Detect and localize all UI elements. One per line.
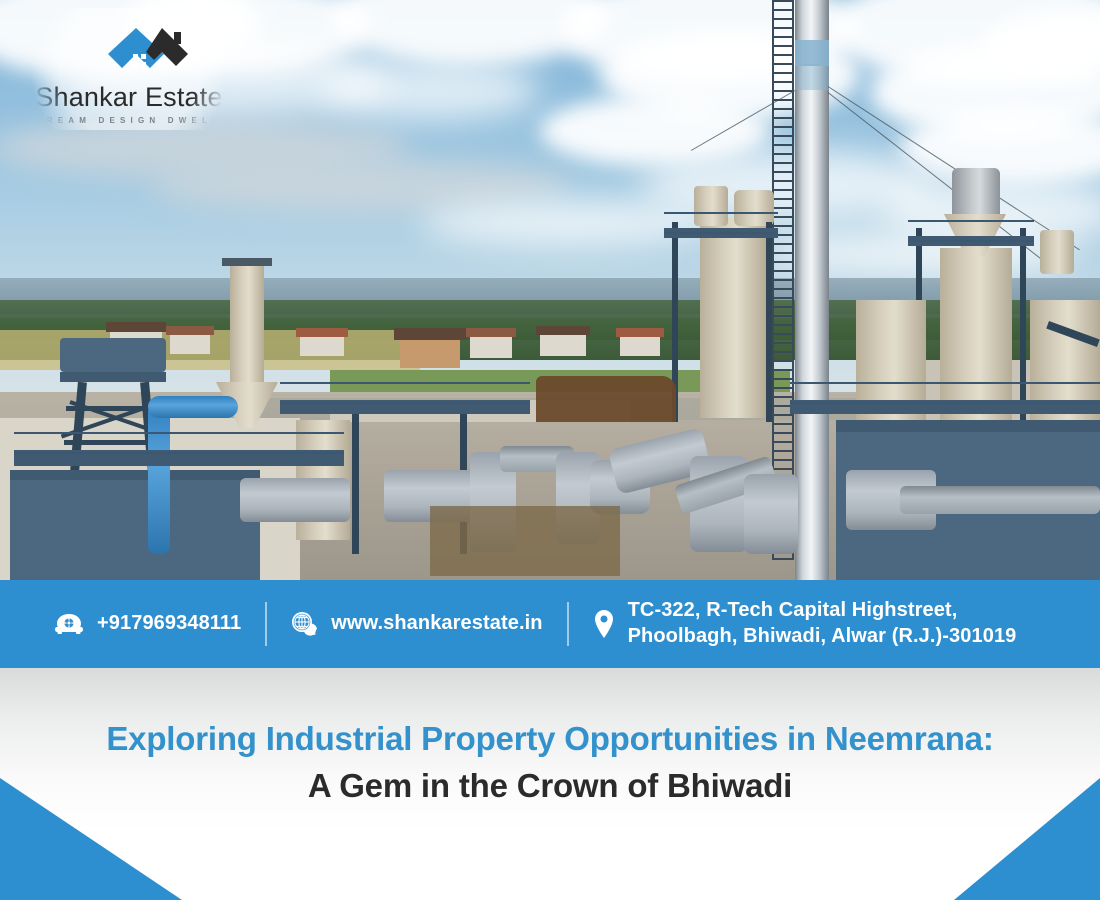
contact-divider: [567, 602, 569, 646]
platform-railing: [280, 382, 530, 404]
chimney-band: [795, 40, 829, 66]
silo-cap: [222, 258, 272, 266]
village-roof: [106, 322, 166, 332]
poster-canvas: Shankar Estate DREAM DESIGN DWELL: [0, 0, 1100, 900]
left-building-top: [10, 470, 260, 480]
tower-railing: [908, 220, 1034, 242]
village-house: [470, 336, 512, 358]
material-heap: [430, 506, 620, 576]
village-roof: [536, 326, 590, 335]
website-url: www.shankarestate.in: [331, 611, 542, 637]
blue-pipe-vertical: [148, 404, 170, 554]
duct-vertical: [744, 474, 798, 554]
left-building: [10, 470, 260, 582]
village-house: [300, 336, 344, 356]
duct-box: [240, 478, 350, 522]
map-pin-icon: [593, 609, 615, 639]
phone-number: +917969348111: [97, 611, 241, 637]
village-house: [170, 334, 210, 354]
brand-name: Shankar Estate: [18, 82, 240, 113]
village-roof: [466, 328, 516, 337]
silo-tall: [230, 262, 264, 382]
address-text: TC-322, R-Tech Capital Highstreet, Phool…: [628, 598, 1017, 649]
brand-logo[interactable]: Shankar Estate DREAM DESIGN DWELL: [18, 8, 240, 130]
contact-divider: [265, 602, 267, 646]
headline-line-2: A Gem in the Crown of Bhiwadi: [0, 763, 1100, 810]
village-roof: [296, 328, 348, 337]
phone-contact[interactable]: +917969348111: [54, 611, 241, 637]
cyclone-head: [1040, 230, 1074, 274]
village-house: [620, 336, 660, 356]
cloud-shape: [320, 60, 540, 120]
address-contact[interactable]: TC-322, R-Tech Capital Highstreet, Phool…: [593, 598, 1017, 649]
chimney-band: [795, 64, 829, 90]
globe-icon: [291, 611, 318, 638]
hero-image: Shankar Estate DREAM DESIGN DWELL: [0, 0, 1100, 582]
address-line-2: Phoolbagh, Bhiwadi, Alwar (R.J.)-301019: [628, 625, 1017, 647]
catwalk-railing: [14, 432, 344, 454]
contact-bar: +917969348111 www.shankarestate.in: [0, 580, 1100, 668]
village-house: [400, 338, 460, 368]
village-house: [540, 334, 586, 356]
brand-tagline: DREAM DESIGN DWELL: [18, 116, 240, 125]
house-chevron-logo-icon: [106, 26, 190, 84]
telephone-icon: [54, 611, 84, 637]
material-pile: [536, 376, 676, 422]
left-tank: [60, 338, 166, 372]
silo-right-a: [700, 218, 766, 418]
headline-line-1: Exploring Industrial Property Opportunit…: [0, 716, 1100, 763]
right-building-top: [836, 420, 1100, 432]
village-roof: [616, 328, 664, 337]
tower-leg: [766, 222, 772, 422]
website-contact[interactable]: www.shankarestate.in: [291, 611, 542, 638]
left-tank-base: [60, 372, 166, 382]
village-roof: [394, 328, 466, 340]
cyclone-head: [952, 168, 1000, 214]
pipe-horizontal-long: [900, 486, 1100, 514]
blue-pipe-horizontal: [148, 396, 238, 418]
platform-leg: [352, 414, 359, 554]
right-railing: [790, 382, 1100, 404]
village-roof: [166, 326, 214, 335]
tower-railing: [664, 212, 778, 234]
address-line-1: TC-322, R-Tech Capital Highstreet,: [628, 599, 958, 621]
headline-section: Exploring Industrial Property Opportunit…: [0, 668, 1100, 900]
page-title: Exploring Industrial Property Opportunit…: [0, 716, 1100, 810]
